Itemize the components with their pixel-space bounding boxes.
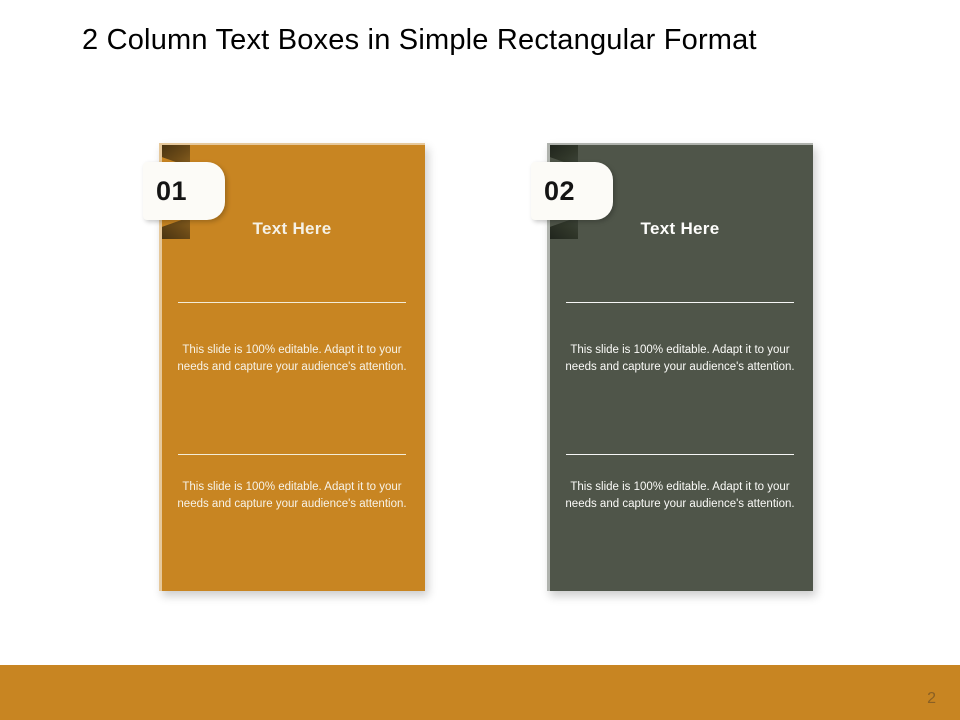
page-number: 2 [927, 691, 936, 707]
text-box-card-02[interactable]: Text Here This slide is 100% editable. A… [547, 143, 813, 591]
card-heading: Text Here [179, 219, 405, 239]
divider-line-bottom [566, 454, 794, 455]
card-body-text-2: This slide is 100% editable. Adapt it to… [177, 479, 407, 512]
text-box-card-01[interactable]: Text Here This slide is 100% editable. A… [159, 143, 425, 591]
card-body-text-1: This slide is 100% editable. Adapt it to… [177, 342, 407, 375]
divider-line-top [566, 302, 794, 303]
card-heading: Text Here [567, 219, 793, 239]
card-number-label: 02 [544, 178, 575, 205]
slide-canvas: 2 Column Text Boxes in Simple Rectangula… [0, 0, 960, 720]
divider-line-bottom [178, 454, 406, 455]
card-body-text-1: This slide is 100% editable. Adapt it to… [565, 342, 795, 375]
cards-container: Text Here This slide is 100% editable. A… [0, 0, 960, 660]
card-number-badge[interactable]: 01 [143, 162, 225, 220]
card-body-text-2: This slide is 100% editable. Adapt it to… [565, 479, 795, 512]
footer-bar: 2 [0, 665, 960, 720]
card-number-badge[interactable]: 02 [531, 162, 613, 220]
card-number-label: 01 [156, 178, 187, 205]
divider-line-top [178, 302, 406, 303]
